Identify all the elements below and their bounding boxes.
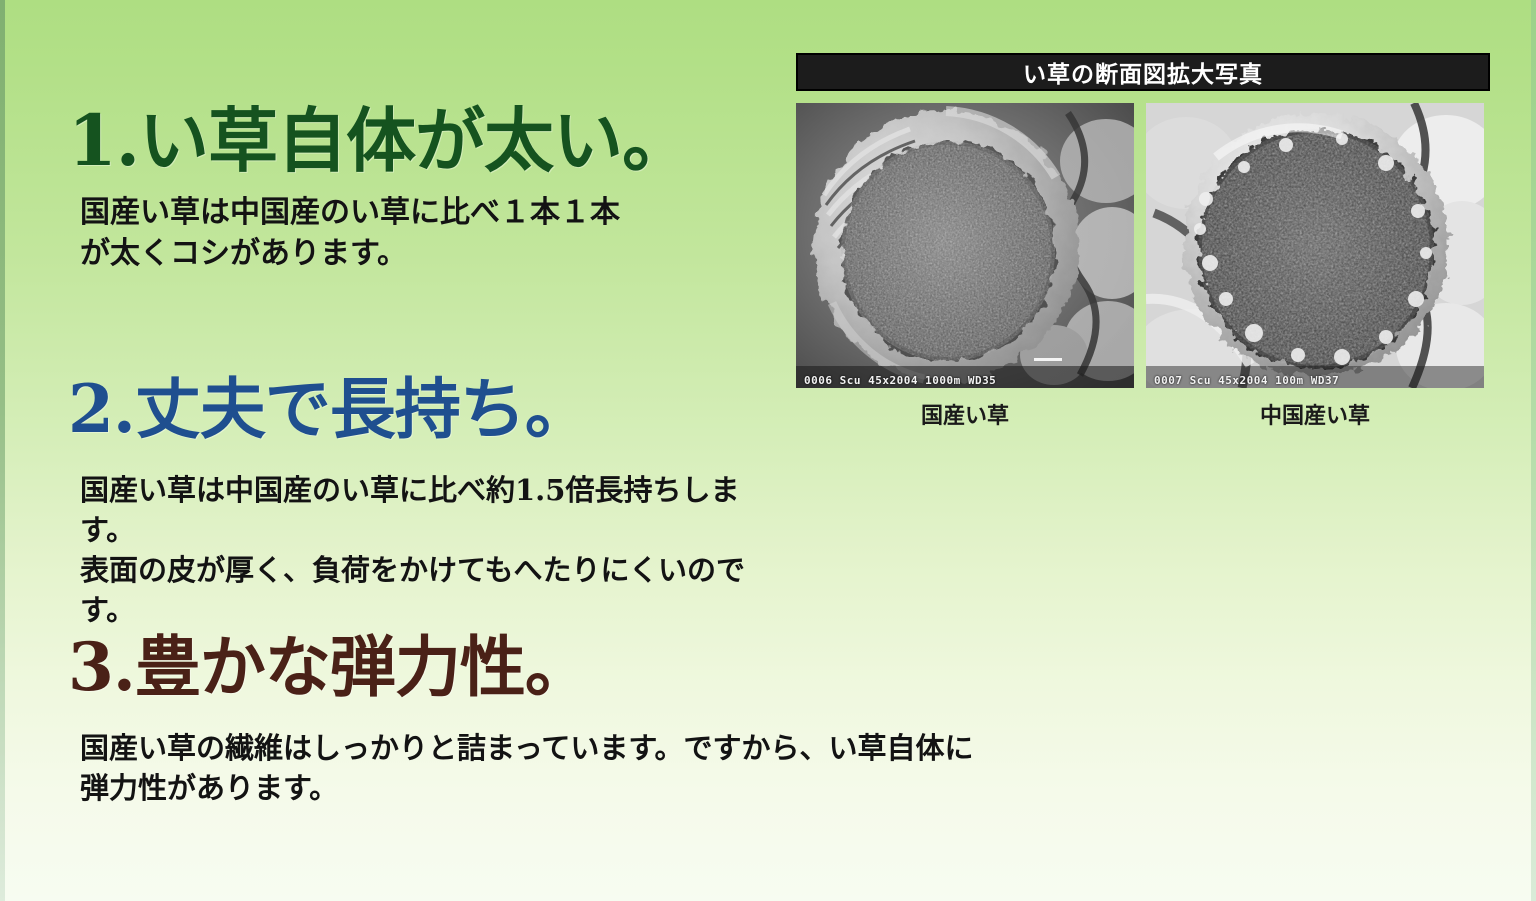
feature-block-1: 1.い草自体が太い。 国産い草は中国産のい草に比べ１本１本 が太くコシがあります… [0, 106, 790, 275]
feature-3-heading: 3.豊かな弾力性。 [0, 634, 1180, 700]
micrograph-row: 0006 Scu 45x2004 1000m WD35 国産い草 [796, 103, 1490, 430]
micrograph-caption-domestic: 国産い草 [796, 398, 1134, 430]
micrograph-overlay-chinese: 0007 Scu 45x2004 100m WD37 [1146, 372, 1484, 388]
feature-1-heading: 1.い草自体が太い。 [0, 106, 790, 176]
micrograph-panel: い草の断面図拡大写真 [796, 53, 1490, 430]
micrograph-image-domestic: 0006 Scu 45x2004 1000m WD35 [796, 103, 1134, 388]
slide-canvas: 1.い草自体が太い。 国産い草は中国産のい草に比べ１本１本 が太くコシがあります… [0, 0, 1536, 901]
feature-1-body: 国産い草は中国産のい草に比べ１本１本 が太くコシがあります。 [0, 192, 790, 275]
micrograph-panel-title: い草の断面図拡大写真 [796, 53, 1490, 91]
micrograph-cell-domestic: 0006 Scu 45x2004 1000m WD35 国産い草 [796, 103, 1134, 430]
micrograph-image-chinese: 0007 Scu 45x2004 100m WD37 [1146, 103, 1484, 388]
feature-2-body: 国産い草は中国産のい草に比べ約1.5倍長持ちします。 表面の皮が厚く、負荷をかけ… [0, 470, 790, 630]
micrograph-caption-chinese: 中国産い草 [1146, 398, 1484, 430]
feature-3-body: 国産い草の繊維はしっかりと詰まっています。ですから、い草自体に 弾力性があります… [0, 728, 1180, 808]
feature-block-2: 2.丈夫で長持ち。 国産い草は中国産のい草に比べ約1.5倍長持ちします。 表面の… [0, 376, 790, 630]
feature-2-heading: 2.丈夫で長持ち。 [0, 376, 790, 442]
feature-block-3: 3.豊かな弾力性。 国産い草の繊維はしっかりと詰まっています。ですから、い草自体… [0, 634, 1180, 808]
micrograph-overlay-domestic: 0006 Scu 45x2004 1000m WD35 [796, 372, 1134, 388]
micrograph-cell-chinese: 0007 Scu 45x2004 100m WD37 中国産い草 [1146, 103, 1484, 430]
